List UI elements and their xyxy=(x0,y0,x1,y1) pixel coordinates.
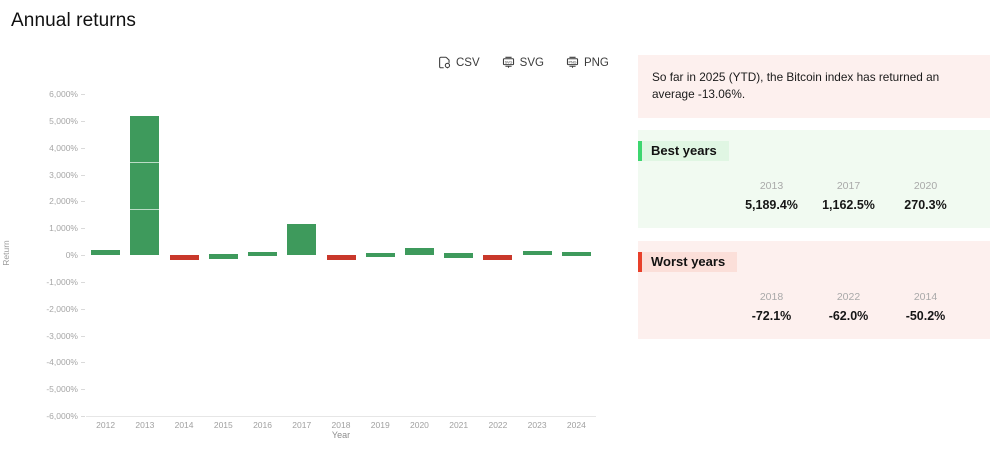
best-year-item: 2020270.3% xyxy=(887,180,964,212)
export-svg-label: SVG xyxy=(520,57,544,69)
worst-years-card: Worst years 2018-72.1%2022-62.0%2014-50.… xyxy=(638,241,990,339)
worst-years-heading: Worst years xyxy=(642,252,737,272)
y-axis-tick-mark xyxy=(81,148,85,149)
x-axis-tick-2019: 2019 xyxy=(371,420,390,430)
worst-year-value: -50.2% xyxy=(887,309,964,323)
y-axis-tick-mark xyxy=(81,175,85,176)
best-years-card: Best years 20135,189.4%20171,162.5%20202… xyxy=(638,130,990,228)
svg-text:PNG: PNG xyxy=(568,60,576,64)
y-axis-tick-label: -4,000% xyxy=(2,357,78,367)
bar-2016[interactable] xyxy=(248,252,277,257)
bar-2013[interactable] xyxy=(130,116,159,255)
bar-gridline xyxy=(130,162,159,163)
y-axis-tick-mark xyxy=(81,255,85,256)
y-axis-tick-mark xyxy=(81,309,85,310)
bar-2017[interactable] xyxy=(287,224,316,255)
y-axis-tick-mark xyxy=(81,416,85,417)
best-year-value: 270.3% xyxy=(887,198,964,212)
y-axis-tick-label: 0% xyxy=(2,250,78,260)
y-axis-tick-label: 1,000% xyxy=(2,223,78,233)
x-axis-tick-2015: 2015 xyxy=(214,420,233,430)
x-axis-line xyxy=(86,416,596,417)
x-axis-tick-2024: 2024 xyxy=(567,420,586,430)
png-download-icon: PNG xyxy=(566,56,579,69)
y-axis-tick-mark xyxy=(81,282,85,283)
page-title: Annual returns xyxy=(11,10,136,32)
annual-returns-page: Annual returns CSV SVG SVG xyxy=(0,0,1000,456)
worst-year-value: -62.0% xyxy=(810,309,887,323)
export-csv-button[interactable]: CSV xyxy=(438,56,480,69)
bar-2021[interactable] xyxy=(444,253,473,258)
x-axis-tick-2020: 2020 xyxy=(410,420,429,430)
x-axis-tick-2021: 2021 xyxy=(449,420,468,430)
bar-2023[interactable] xyxy=(523,251,552,256)
bar-2022[interactable] xyxy=(483,255,512,260)
worst-years-header: Worst years xyxy=(638,252,737,272)
y-axis-tick-label: 5,000% xyxy=(2,116,78,126)
plot-area: 6,000%5,000%4,000%3,000%2,000%1,000%0%-1… xyxy=(86,94,596,416)
bar-2012[interactable] xyxy=(91,250,120,255)
best-year-value: 1,162.5% xyxy=(810,198,887,212)
y-axis-tick-mark xyxy=(81,121,85,122)
x-axis-title: Year xyxy=(86,430,596,440)
bar-2019[interactable] xyxy=(366,253,395,258)
export-csv-label: CSV xyxy=(456,57,480,69)
y-axis-tick-label: 2,000% xyxy=(2,196,78,206)
y-axis-tick-mark xyxy=(81,362,85,363)
worst-year-year: 2014 xyxy=(887,291,964,303)
y-axis-tick-label: -2,000% xyxy=(2,304,78,314)
x-axis-tick-2023: 2023 xyxy=(528,420,547,430)
bar-2024[interactable] xyxy=(562,252,591,257)
export-svg-button[interactable]: SVG SVG xyxy=(502,56,544,69)
worst-year-value: -72.1% xyxy=(733,309,810,323)
export-png-button[interactable]: PNG PNG xyxy=(566,56,609,69)
y-axis-tick-mark xyxy=(81,201,85,202)
bar-2018[interactable] xyxy=(327,255,356,260)
best-year-value: 5,189.4% xyxy=(733,198,810,212)
bar-2015[interactable] xyxy=(209,254,238,259)
x-axis-tick-2022: 2022 xyxy=(488,420,507,430)
best-years-heading: Best years xyxy=(642,141,729,161)
x-axis-tick-2018: 2018 xyxy=(332,420,351,430)
y-axis-tick-label: -6,000% xyxy=(2,411,78,421)
svg-download-icon: SVG xyxy=(502,56,515,69)
ytd-note-text: So far in 2025 (YTD), the Bitcoin index … xyxy=(652,70,939,101)
y-axis-tick-label: -3,000% xyxy=(2,331,78,341)
y-axis-tick-mark xyxy=(81,389,85,390)
ytd-note-card: So far in 2025 (YTD), the Bitcoin index … xyxy=(638,55,990,118)
y-axis-tick-mark xyxy=(81,336,85,337)
x-axis-tick-2012: 2012 xyxy=(96,420,115,430)
x-axis-tick-2014: 2014 xyxy=(175,420,194,430)
y-axis-tick-mark xyxy=(81,228,85,229)
y-axis-tick-label: 4,000% xyxy=(2,143,78,153)
y-axis-tick-label: 3,000% xyxy=(2,170,78,180)
summary-sidebar: So far in 2025 (YTD), the Bitcoin index … xyxy=(638,55,990,339)
worst-year-item: 2018-72.1% xyxy=(733,291,810,323)
worst-years-row: 2018-72.1%2022-62.0%2014-50.2% xyxy=(638,291,990,323)
annual-returns-chart: Return Year 6,000%5,000%4,000%3,000%2,00… xyxy=(0,80,620,446)
best-year-year: 2013 xyxy=(733,180,810,192)
x-axis-tick-2017: 2017 xyxy=(292,420,311,430)
export-png-label: PNG xyxy=(584,57,609,69)
csv-download-icon xyxy=(438,56,451,69)
best-years-header: Best years xyxy=(638,141,729,161)
svg-text:SVG: SVG xyxy=(504,60,512,64)
y-axis-tick-label: -5,000% xyxy=(2,384,78,394)
export-toolbar: CSV SVG SVG PNG PNG xyxy=(438,56,609,69)
best-year-item: 20171,162.5% xyxy=(810,180,887,212)
x-axis-tick-2016: 2016 xyxy=(253,420,272,430)
best-year-year: 2020 xyxy=(887,180,964,192)
worst-year-year: 2022 xyxy=(810,291,887,303)
best-year-item: 20135,189.4% xyxy=(733,180,810,212)
y-axis-tick-label: -1,000% xyxy=(2,277,78,287)
y-axis-tick-label: 6,000% xyxy=(2,89,78,99)
bar-2020[interactable] xyxy=(405,248,434,255)
worst-year-item: 2014-50.2% xyxy=(887,291,964,323)
bar-gridline xyxy=(130,209,159,210)
x-axis-tick-2013: 2013 xyxy=(135,420,154,430)
bar-2014[interactable] xyxy=(170,255,199,260)
best-year-year: 2017 xyxy=(810,180,887,192)
worst-year-year: 2018 xyxy=(733,291,810,303)
y-axis-tick-mark xyxy=(81,94,85,95)
worst-year-item: 2022-62.0% xyxy=(810,291,887,323)
best-years-row: 20135,189.4%20171,162.5%2020270.3% xyxy=(638,180,990,212)
